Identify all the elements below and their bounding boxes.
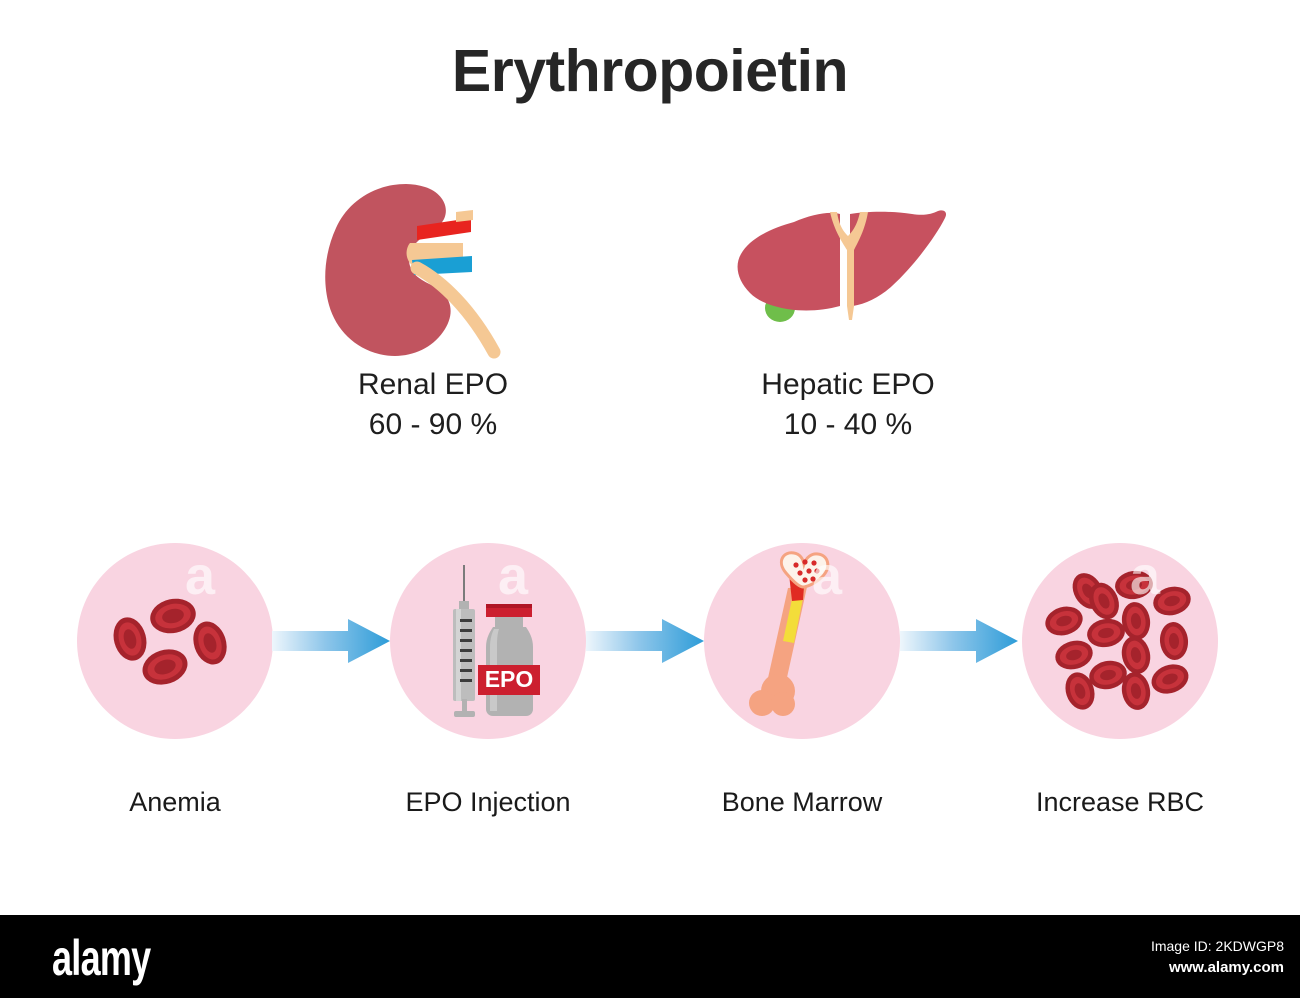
liver-icon [708,180,988,365]
flow-arrow-1 [272,617,390,665]
rbc [188,617,232,669]
syringe [453,565,475,717]
kidney-icon [293,180,573,365]
flow-step-rbc: a Inc [1022,543,1218,818]
organ-value-renal: 60 - 90 % [293,405,573,445]
rbc [109,614,151,665]
watermark-glyph: a [498,549,528,603]
flow-step-injection: a [390,543,586,818]
syringe-hub [459,601,469,609]
watermark-glyph: a [812,549,842,603]
vial-label-text: EPO [485,666,534,692]
flow-label-anemia: Anemia [77,787,273,818]
syringe-needle [463,565,465,605]
alamy-logo: alamy [52,929,150,987]
alamy-footer-bar: alamy Image ID: 2KDWGP8 www.alamy.com [0,915,1300,998]
alamy-url-text: www.alamy.com [1151,956,1284,980]
organ-label-renal: Renal EPO [293,365,573,405]
flow-arrow-3 [900,617,1018,665]
vial-neck [495,617,523,627]
red-blood-cells-sparse-icon [77,543,273,739]
rbc [1158,621,1189,661]
rbc-circle: a [1022,543,1218,739]
anemia-circle: a [77,543,273,739]
organ-value-hepatic: 10 - 40 % [708,405,988,445]
rbc-group [1042,568,1194,714]
rbc [138,644,192,691]
organ-block-renal: Renal EPO 60 - 90 % [293,180,573,445]
marrow-circle: a [704,543,900,739]
watermark-glyph: a [1130,549,1160,603]
flow-step-marrow: a [704,543,900,818]
liver-art [708,180,988,365]
watermark-glyph: a [185,549,215,603]
rbc [1147,659,1192,698]
arrow-right-icon [900,617,1018,665]
syringe-vial-icon: EPO [390,543,586,739]
footer-meta: Image ID: 2KDWGP8 www.alamy.com [1151,937,1284,980]
flow-label-marrow: Bone Marrow [704,787,900,818]
arrow-right-icon [586,617,704,665]
syringe-plunger [462,699,467,713]
organ-label-hepatic: Hepatic EPO [708,365,988,405]
rbc-group [109,595,232,691]
injection-circle: a [390,543,586,739]
rbc [1052,637,1096,674]
flow-arrow-2 [586,617,704,665]
page-title: Erythropoietin [0,42,1300,101]
organ-block-hepatic: Hepatic EPO 10 - 40 % [708,180,988,445]
syringe-highlight [456,609,461,701]
rbc [1042,602,1086,639]
arrow-right-icon [272,617,390,665]
kidney-art [293,180,573,365]
flow-label-rbc: Increase RBC [1022,787,1218,818]
bone-condyle-3 [771,692,795,716]
liver-left-lobe [738,213,840,311]
illustration-canvas: Erythropoietin Renal EPO 60 - 90 % [0,0,1300,915]
renal-artery-stub [456,210,473,222]
rbc [1119,600,1152,642]
syringe-thumb-rest [454,711,475,717]
image-id-text: Image ID: 2KDWGP8 [1151,937,1284,956]
flow-label-injection: EPO Injection [390,787,586,818]
epo-vial: EPO [478,604,540,716]
red-blood-cells-dense-icon [1022,543,1218,739]
rbc [1085,616,1127,650]
flow-step-anemia: a [77,543,273,818]
bone-marrow-icon [704,543,900,739]
